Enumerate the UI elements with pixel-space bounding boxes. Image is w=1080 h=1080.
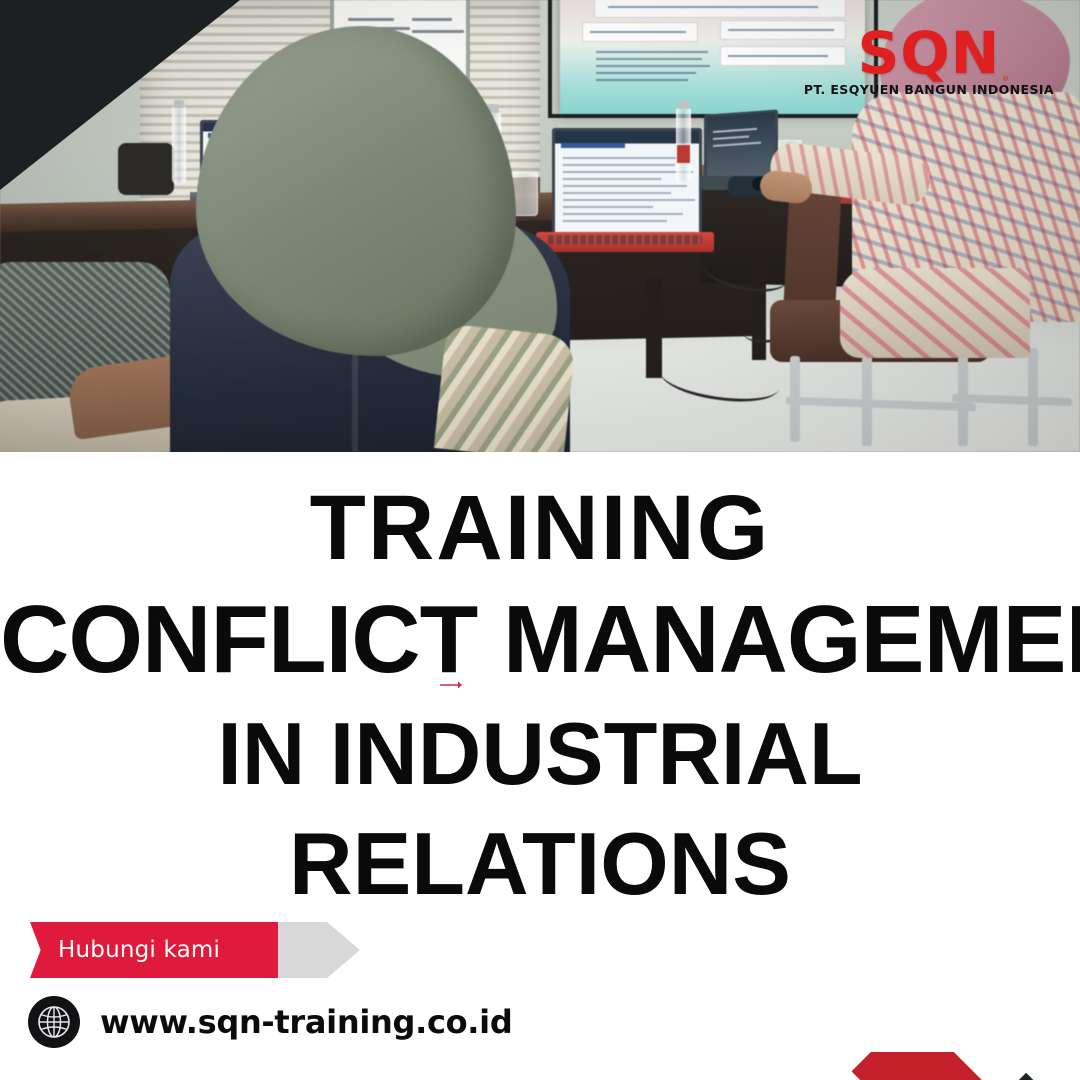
logo-wordmark: SQN (804, 24, 1054, 82)
rear-chair (118, 143, 174, 195)
company-logo: SQN ® PT. ESQYUEN BANGUN INDONESIA (804, 24, 1054, 97)
bottle-cap-right (678, 101, 689, 109)
participant-centre-sleeve (434, 324, 576, 452)
laptop-main-base (536, 232, 714, 252)
participant-right-lap (840, 268, 1030, 358)
logo-tagline: PT. ESQYUEN BANGUN INDONESIA (804, 84, 1054, 97)
water-bottle-rear (172, 106, 186, 184)
chevron-red-upper (852, 1052, 1080, 1080)
ribbon-red-body: Hubungi kami (30, 922, 278, 978)
chevron-dark-upper (974, 1073, 1080, 1080)
content-area: TRAINING CONFLICT MANAGEMENT IN INDUSTRI… (0, 452, 1080, 1080)
website-url[interactable]: www.sqn-training.co.id (100, 1003, 512, 1041)
poster-canvas: SQN ® PT. ESQYUEN BANGUN INDONESIA TRAIN… (0, 0, 1080, 1080)
ribbon-label: Hubungi kami (58, 937, 220, 963)
title-line-1: TRAINING (0, 482, 1080, 574)
title-block: TRAINING CONFLICT MANAGEMENT IN INDUSTRI… (0, 452, 1080, 908)
water-bottle-right (676, 108, 691, 182)
table-leg-1 (646, 278, 662, 378)
title-line-3: IN INDUSTRIAL (0, 710, 1080, 798)
laptop-secondary-screen (704, 109, 778, 180)
registered-trademark-icon: ® (1003, 76, 1008, 83)
title-line-4: RELATIONS (0, 820, 1080, 908)
website-row[interactable]: www.sqn-training.co.id (28, 996, 512, 1048)
title-line-2: CONFLICT MANAGEMENT (0, 592, 1080, 688)
red-arrow-cursor-icon (440, 680, 462, 690)
chevron-decoration-group (760, 1052, 1080, 1080)
globe-icon (28, 996, 80, 1048)
bottle-cap-rear (174, 100, 184, 108)
